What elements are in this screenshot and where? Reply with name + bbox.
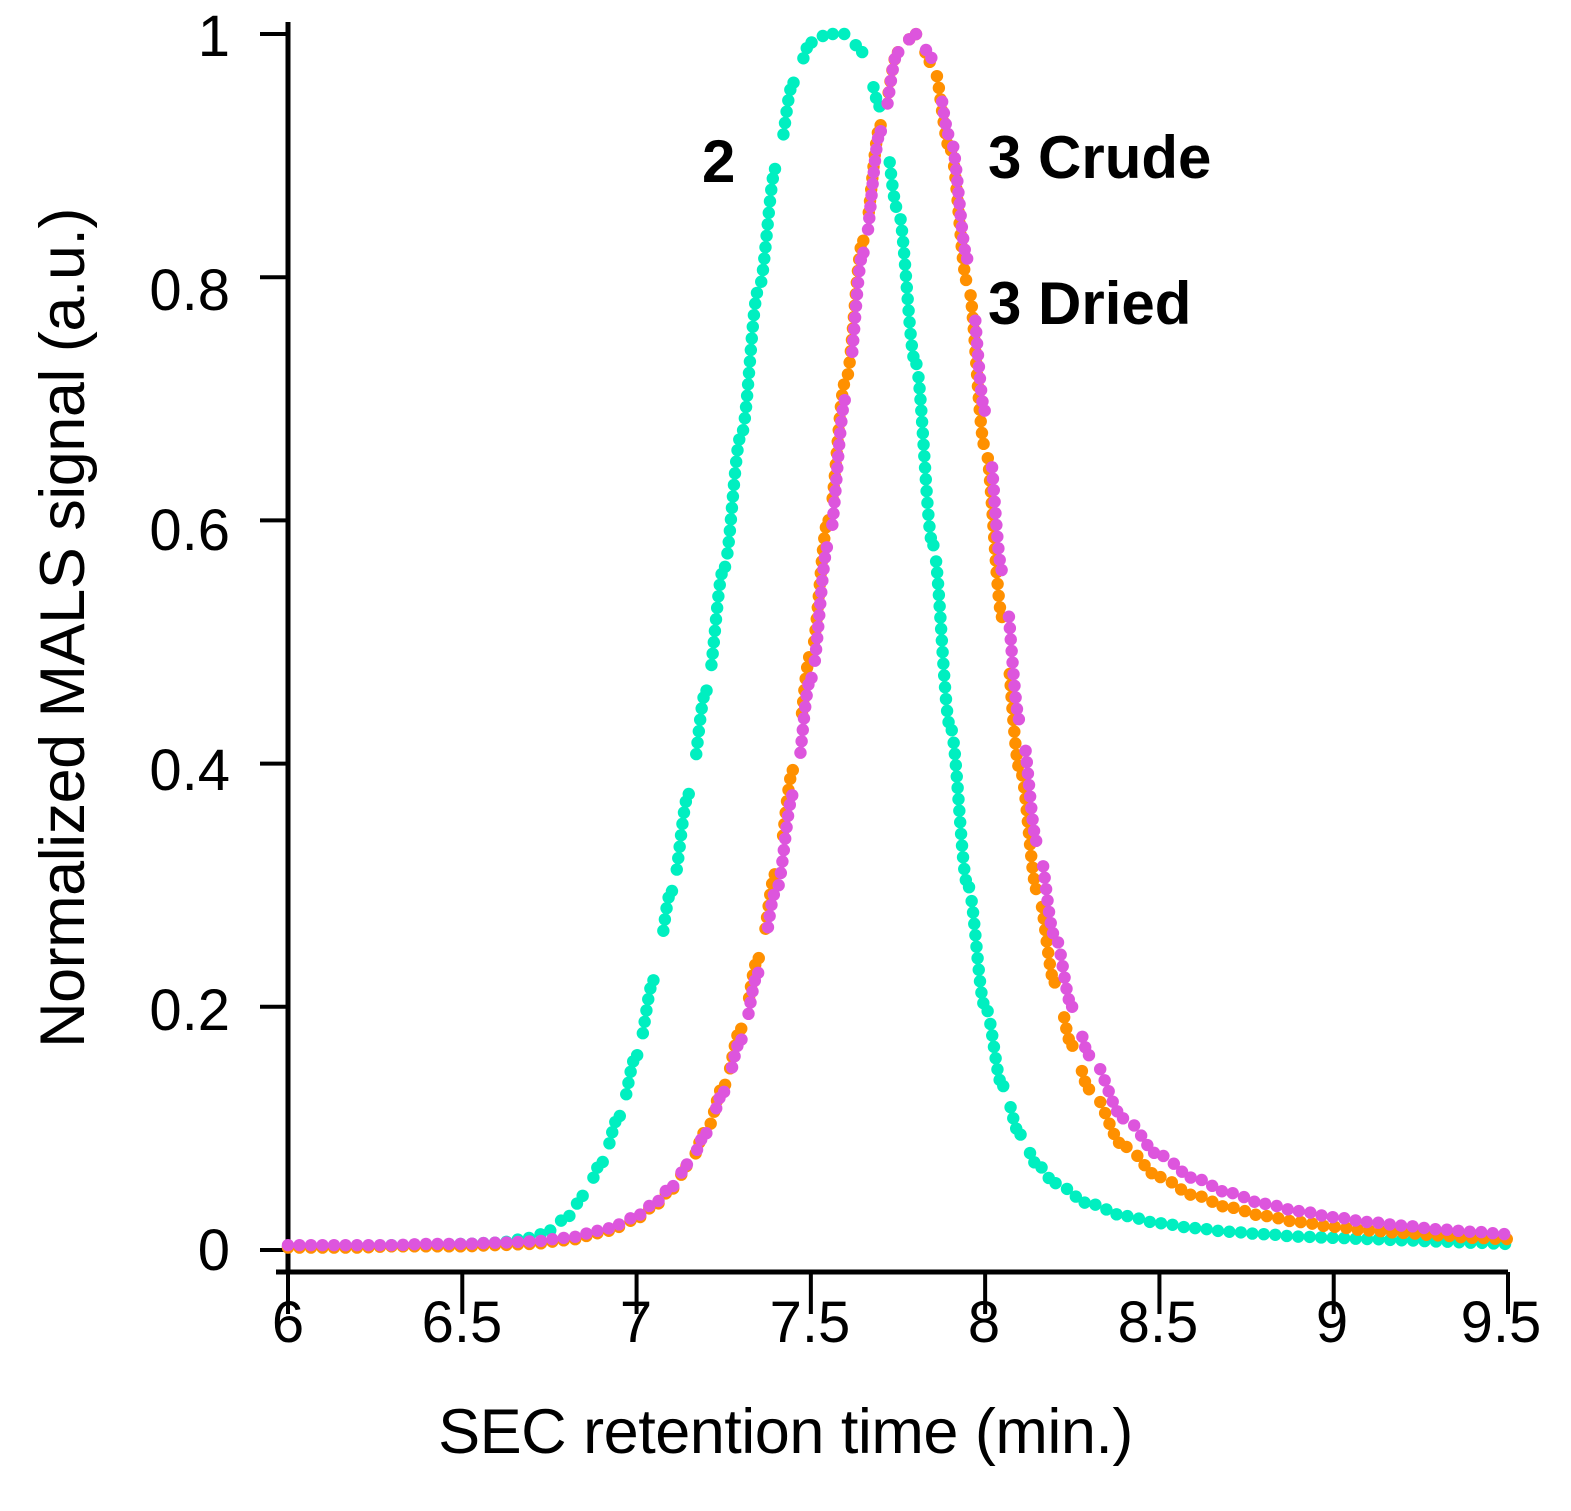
data-point — [990, 519, 1002, 531]
data-point — [922, 508, 934, 520]
data-point — [848, 323, 860, 335]
series-annotation-2: 2 — [702, 132, 735, 192]
data-point — [952, 186, 964, 198]
data-point — [726, 502, 738, 514]
data-point — [782, 94, 794, 106]
data-point — [912, 371, 924, 383]
data-point — [970, 326, 982, 338]
data-point — [1498, 1228, 1510, 1240]
data-point — [887, 63, 899, 75]
data-point — [938, 107, 950, 119]
data-point — [1283, 1215, 1295, 1227]
data-point — [362, 1239, 374, 1251]
data-point — [901, 293, 913, 305]
data-point — [958, 263, 970, 275]
data-point — [775, 867, 787, 879]
data-point — [761, 218, 773, 230]
data-point — [443, 1238, 455, 1250]
data-point — [971, 952, 983, 964]
data-point — [974, 975, 986, 987]
data-point — [760, 230, 772, 242]
data-point — [904, 328, 916, 340]
data-point — [667, 1180, 679, 1192]
data-point — [1120, 1141, 1132, 1153]
data-point — [954, 209, 966, 221]
data-point — [1005, 645, 1017, 657]
data-point — [991, 578, 1003, 590]
plot-canvas — [0, 0, 1571, 1511]
data-point — [975, 384, 987, 396]
data-point — [705, 659, 717, 671]
data-point — [827, 28, 839, 40]
data-point — [721, 547, 733, 559]
data-point — [970, 940, 982, 952]
data-point — [431, 1238, 443, 1250]
data-point — [1043, 906, 1055, 918]
data-point — [991, 1063, 1003, 1075]
data-point — [900, 270, 912, 282]
data-point — [748, 309, 760, 321]
data-point — [1056, 960, 1068, 972]
data-point — [683, 788, 695, 800]
data-point — [671, 863, 683, 875]
data-point — [660, 902, 672, 914]
data-point — [842, 368, 854, 380]
data-point — [1076, 1031, 1088, 1043]
data-point — [901, 281, 913, 293]
data-point — [809, 655, 821, 667]
data-point — [1216, 1200, 1228, 1212]
data-point — [1196, 1174, 1208, 1186]
data-point — [726, 1061, 738, 1073]
data-point — [828, 496, 840, 508]
data-point — [1338, 1212, 1350, 1224]
data-point — [723, 536, 735, 548]
data-point — [743, 367, 755, 379]
data-point — [973, 964, 985, 976]
data-point — [1292, 1230, 1304, 1242]
data-point — [725, 513, 737, 525]
data-point — [1429, 1223, 1441, 1235]
data-point — [967, 906, 979, 918]
data-point — [758, 252, 770, 264]
data-point — [385, 1239, 397, 1251]
data-point — [866, 178, 878, 190]
data-point — [724, 524, 736, 536]
data-point — [799, 701, 811, 713]
data-point — [832, 450, 844, 462]
series-2 — [282, 28, 1511, 1253]
data-point — [875, 125, 887, 137]
data-point — [672, 852, 684, 864]
data-point — [931, 70, 943, 82]
data-point — [762, 921, 774, 933]
data-point — [466, 1237, 478, 1249]
data-point — [710, 613, 722, 625]
data-point — [1144, 1216, 1156, 1228]
data-point — [780, 821, 792, 833]
data-point — [958, 863, 970, 875]
data-point — [857, 247, 869, 259]
data-point — [798, 712, 810, 724]
data-point — [1272, 1212, 1284, 1224]
data-point — [752, 967, 764, 979]
data-point — [1184, 1188, 1196, 1200]
data-point — [814, 598, 826, 610]
data-point — [1052, 936, 1064, 948]
data-point — [691, 736, 703, 748]
data-point — [1078, 1196, 1090, 1208]
data-point — [1044, 958, 1056, 970]
data-point — [1035, 1161, 1047, 1173]
data-point — [1200, 1223, 1212, 1235]
data-point — [700, 684, 712, 696]
data-point — [896, 225, 908, 237]
data-point — [839, 394, 851, 406]
data-point — [853, 265, 865, 277]
data-point — [1154, 1171, 1166, 1183]
data-point — [937, 658, 949, 670]
series-annotation-3-crude: 3 Crude — [988, 128, 1211, 188]
data-point — [1464, 1226, 1476, 1238]
data-point — [894, 213, 906, 225]
data-point — [1025, 802, 1037, 814]
data-point — [1003, 611, 1015, 623]
data-point — [1110, 1208, 1122, 1220]
data-point — [846, 346, 858, 358]
data-point — [1117, 1112, 1129, 1124]
data-point — [849, 311, 861, 323]
data-point — [742, 378, 754, 390]
data-point — [956, 221, 968, 233]
data-point — [1037, 860, 1049, 872]
data-point — [751, 287, 763, 299]
data-point — [675, 829, 687, 841]
data-point — [647, 974, 659, 986]
data-point — [786, 789, 798, 801]
data-point — [711, 602, 723, 614]
data-point — [634, 1208, 646, 1220]
data-point — [1250, 1209, 1262, 1221]
data-point — [1487, 1227, 1499, 1239]
data-point — [1004, 622, 1016, 634]
data-point — [1282, 1203, 1294, 1215]
data-point — [742, 1008, 754, 1020]
data-point — [953, 198, 965, 210]
data-point — [906, 339, 918, 351]
data-point — [729, 467, 741, 479]
data-point — [1021, 756, 1033, 768]
data-point — [747, 321, 759, 333]
data-point — [913, 382, 925, 394]
data-point — [964, 289, 976, 301]
data-point — [885, 168, 897, 180]
data-point — [700, 1127, 712, 1139]
data-point — [947, 737, 959, 749]
data-point — [731, 444, 743, 456]
data-point — [1212, 1225, 1224, 1237]
data-point — [903, 316, 915, 328]
data-point — [899, 258, 911, 270]
data-point — [673, 841, 685, 853]
data-point — [949, 748, 961, 760]
data-point — [951, 770, 963, 782]
data-point — [810, 643, 822, 655]
data-point — [1304, 1206, 1316, 1218]
data-point — [934, 611, 946, 623]
data-point — [797, 724, 809, 736]
data-point — [642, 993, 654, 1005]
data-point — [1055, 949, 1067, 961]
data-point — [805, 36, 817, 48]
data-point — [1372, 1217, 1384, 1229]
data-point — [693, 725, 705, 737]
data-point — [936, 96, 948, 108]
data-point — [1066, 1040, 1078, 1052]
data-point — [1006, 656, 1018, 668]
data-point — [1269, 1229, 1281, 1241]
data-point — [779, 117, 791, 129]
data-point — [942, 128, 954, 140]
data-point — [963, 881, 975, 893]
data-point — [1026, 861, 1038, 873]
data-point — [1281, 1230, 1293, 1242]
data-point — [920, 473, 932, 485]
data-point — [695, 702, 707, 714]
data-point — [730, 456, 742, 468]
data-point — [1157, 1150, 1169, 1162]
data-point — [744, 996, 756, 1008]
data-point — [397, 1239, 409, 1251]
data-point — [777, 128, 789, 140]
data-point — [1009, 737, 1021, 749]
data-point — [1327, 1211, 1339, 1223]
data-point — [1418, 1222, 1430, 1234]
data-point — [947, 141, 959, 153]
data-point — [591, 1225, 603, 1237]
data-point — [620, 1088, 632, 1100]
data-point — [800, 689, 812, 701]
data-point — [580, 1227, 592, 1239]
data-point — [779, 832, 791, 844]
data-point — [978, 404, 990, 416]
data-point — [1089, 1198, 1101, 1210]
data-point — [1304, 1231, 1316, 1243]
data-point — [933, 589, 945, 601]
data-point — [884, 156, 896, 168]
data-point — [1223, 1226, 1235, 1238]
data-point — [975, 986, 987, 998]
data-point — [984, 1018, 996, 1030]
data-point — [988, 496, 1000, 508]
data-point — [864, 201, 876, 213]
data-point — [815, 586, 827, 598]
data-point — [477, 1237, 489, 1249]
data-point — [576, 1190, 588, 1202]
data-point — [637, 1027, 649, 1039]
data-point — [1024, 790, 1036, 802]
data-point — [886, 179, 898, 191]
data-point — [936, 634, 948, 646]
data-point — [563, 1210, 575, 1222]
data-point — [1049, 1177, 1061, 1189]
data-point — [759, 241, 771, 253]
series-annotation-3-dried: 3 Dried — [988, 274, 1191, 334]
data-point — [1008, 680, 1020, 692]
data-point — [819, 551, 831, 563]
data-point — [714, 579, 726, 591]
data-point — [961, 252, 973, 264]
data-point — [1185, 1171, 1197, 1183]
data-point — [935, 623, 947, 635]
data-point — [1248, 1196, 1260, 1208]
data-point — [1349, 1214, 1361, 1226]
data-point — [910, 28, 922, 40]
data-point — [408, 1238, 420, 1250]
data-point — [941, 705, 953, 717]
data-point — [805, 672, 817, 684]
data-point — [1166, 1219, 1178, 1231]
data-point — [1005, 633, 1017, 645]
data-point — [972, 349, 984, 361]
data-point — [932, 578, 944, 590]
data-point — [954, 816, 966, 828]
data-point — [535, 1235, 547, 1247]
data-point — [787, 764, 799, 776]
data-point — [755, 276, 767, 288]
data-point — [1009, 691, 1021, 703]
data-point — [765, 184, 777, 196]
data-point — [1076, 1065, 1088, 1077]
data-point — [881, 97, 893, 109]
data-point — [955, 828, 967, 840]
data-point — [1361, 1216, 1373, 1228]
data-point — [957, 851, 969, 863]
data-point — [1030, 835, 1042, 847]
data-point — [769, 163, 781, 175]
data-point — [1195, 1190, 1207, 1202]
data-point — [728, 479, 740, 491]
data-point — [678, 806, 690, 818]
data-point — [835, 415, 847, 427]
data-point — [939, 681, 951, 693]
data-point — [735, 1022, 747, 1034]
data-point — [500, 1236, 512, 1248]
data-point — [640, 1004, 652, 1016]
data-point — [898, 247, 910, 259]
data-point — [659, 913, 671, 925]
data-point — [829, 485, 841, 497]
data-point — [831, 462, 843, 474]
data-point — [1271, 1200, 1283, 1212]
data-point — [1042, 947, 1054, 959]
data-point — [1216, 1185, 1228, 1197]
data-point — [719, 561, 731, 573]
data-point — [834, 427, 846, 439]
data-point — [902, 304, 914, 316]
data-point — [852, 277, 864, 289]
data-point — [976, 427, 988, 439]
data-point — [1098, 1074, 1110, 1086]
data-point — [1239, 1205, 1251, 1217]
data-point — [851, 288, 863, 300]
data-point — [940, 693, 952, 705]
data-point — [1060, 983, 1072, 995]
data-point — [1475, 1226, 1487, 1238]
data-point — [986, 461, 998, 473]
data-point — [968, 918, 980, 930]
data-point — [1014, 1128, 1026, 1140]
data-point — [694, 714, 706, 726]
data-point — [1452, 1225, 1464, 1237]
data-point — [763, 910, 775, 922]
data-point — [812, 620, 824, 632]
data-point — [1293, 1205, 1305, 1217]
data-point — [952, 793, 964, 805]
data-point — [862, 223, 874, 235]
data-point — [652, 1195, 664, 1207]
data-point — [918, 450, 930, 462]
data-point — [816, 574, 828, 586]
data-point — [921, 497, 933, 509]
data-point — [727, 490, 739, 502]
data-series-group — [282, 28, 1513, 1254]
data-point — [925, 52, 937, 64]
data-point — [1155, 1217, 1167, 1229]
data-point — [1013, 713, 1025, 725]
data-point — [914, 393, 926, 405]
data-point — [1060, 1022, 1072, 1034]
data-point — [1384, 1218, 1396, 1230]
data-point — [973, 361, 985, 373]
data-point — [987, 473, 999, 485]
data-point — [657, 925, 669, 937]
data-point — [897, 236, 909, 248]
data-point — [833, 439, 845, 451]
data-point — [614, 1110, 626, 1122]
data-point — [764, 195, 776, 207]
data-point — [988, 484, 1000, 496]
data-point — [546, 1233, 558, 1245]
data-point — [282, 1239, 294, 1251]
data-point — [919, 462, 931, 474]
data-point — [850, 300, 862, 312]
data-point — [666, 885, 678, 897]
data-point — [1261, 1210, 1273, 1222]
data-point — [776, 855, 788, 867]
data-point — [838, 28, 850, 40]
data-point — [1022, 767, 1034, 779]
data-point — [936, 646, 948, 658]
data-point — [949, 152, 961, 164]
data-point — [890, 201, 902, 213]
data-point — [1246, 1227, 1258, 1239]
data-point — [927, 539, 939, 551]
data-point — [737, 424, 749, 436]
data-point — [1025, 850, 1037, 862]
data-point — [813, 609, 825, 621]
data-point — [981, 1005, 993, 1017]
data-point — [420, 1238, 432, 1250]
data-point — [1395, 1219, 1407, 1231]
data-point — [787, 76, 799, 88]
data-point — [569, 1231, 581, 1243]
data-point — [966, 300, 978, 312]
data-point — [1023, 779, 1035, 791]
data-point — [969, 314, 981, 326]
data-point — [706, 647, 718, 659]
data-point — [989, 507, 1001, 519]
